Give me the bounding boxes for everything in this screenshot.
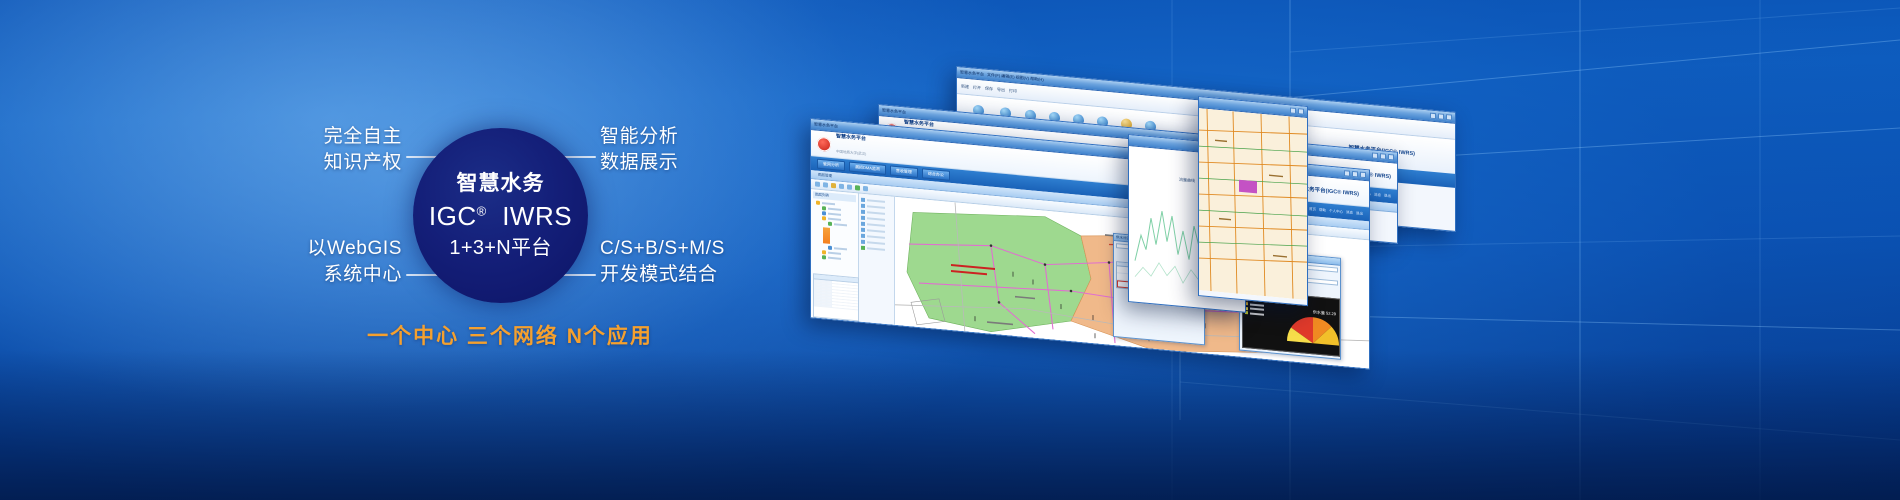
banner-stage: 完全自主 知识产权 以WebGIS 系统中心 智能分析 数据展示 C/S+B/S… [0, 0, 1900, 500]
window-back-titlebar-text: 智慧水务平台 [960, 69, 984, 77]
registered-mark-icon: ® [477, 203, 487, 218]
nav-front-right-3[interactable]: 消息 [1346, 210, 1353, 216]
window-controls[interactable] [1430, 113, 1452, 121]
nav-front-1[interactable]: 漏损DMA监测 [849, 162, 886, 175]
hub-title-en: IGC® IWRS [429, 203, 572, 229]
feature-bottom-left: 以WebGIS 系统中心 [222, 236, 402, 288]
nav-mid-right-4[interactable]: 退出 [1384, 193, 1391, 199]
palette-item-8[interactable] [861, 246, 892, 253]
attribute-grid[interactable] [813, 273, 859, 321]
app-window-stack: 智慧水务平台 文件(F) 编辑(E) 视图(V) 帮助(H) 新建 打开 保存 … [760, 0, 1900, 500]
company-logo-icon-front [817, 136, 831, 151]
brand-name-front: 智慧水务平台 [836, 132, 866, 142]
feature-diagram: 完全自主 知识产权 以WebGIS 系统中心 智能分析 数据展示 C/S+B/S… [0, 0, 820, 500]
window-orange-controls[interactable] [1290, 107, 1304, 114]
feature-bottom-right-line1: C/S+B/S+M/S [600, 236, 725, 262]
nav-front-2[interactable]: 营收管理 [890, 165, 918, 178]
hub-title-cn: 智慧水务 [457, 173, 545, 194]
feature-top-right-line1: 智能分析 [600, 124, 678, 150]
nav-front-right-0[interactable]: 首页 [1309, 206, 1316, 212]
nav-front-right-1[interactable]: 帮助 [1319, 207, 1326, 213]
feature-top-left-line1: 完全自主 [222, 124, 402, 150]
window-middle-titlebar-text: 智慧水务平台 [882, 107, 906, 115]
ribbon-label-2[interactable]: 保存 [985, 85, 993, 92]
subnav-front-0[interactable]: 图层管理 [818, 172, 832, 178]
feature-top-right-line2: 数据展示 [600, 150, 678, 176]
nav-front-right-2[interactable]: 个人中心 [1329, 208, 1343, 214]
hub-title-en-main: IGC [429, 201, 477, 231]
feature-top-left: 完全自主 知识产权 [222, 124, 402, 176]
window-front-titlebar-text: 智慧水务平台 [814, 121, 838, 129]
layer-palette-panel[interactable] [859, 194, 895, 327]
window-front-controls[interactable] [1344, 170, 1366, 178]
nav-front-right[interactable]: 首页 帮助 个人中心 消息 退出 [1309, 206, 1363, 216]
orange-map-svg [1199, 108, 1307, 300]
hub-title-en-second: IWRS [502, 201, 572, 231]
nav-mid-right-3[interactable]: 消息 [1374, 192, 1381, 198]
orange-map-highlight [1239, 180, 1257, 194]
ribbon-label-1[interactable]: 打开 [973, 84, 981, 91]
feature-bottom-left-line1: 以WebGIS [222, 236, 402, 262]
feature-bottom-right-line2: 开发模式结合 [600, 262, 725, 288]
window-orange-map[interactable] [1198, 96, 1308, 306]
nav-front-0[interactable]: 管网分析 [817, 159, 845, 172]
layer-tree-panel[interactable]: 图层列表 [811, 189, 859, 323]
nav-front-right-4[interactable]: 退出 [1356, 211, 1363, 217]
window-middle-controls[interactable] [1372, 152, 1394, 160]
feature-top-right: 智能分析 数据展示 [600, 124, 678, 176]
tagline: 一个中心 三个网络 N个应用 [300, 320, 720, 350]
ribbon-label-3[interactable]: 导出 [997, 86, 1005, 93]
feature-bottom-right: C/S+B/S+M/S 开发模式结合 [600, 236, 725, 288]
ribbon-label-4[interactable]: 打印 [1009, 87, 1017, 94]
ribbon-label-0[interactable]: 新建 [961, 83, 969, 90]
feature-top-left-line2: 知识产权 [222, 150, 402, 176]
hub-subtitle: 1+3+N平台 [449, 238, 551, 258]
feature-bottom-left-line2: 系统中心 [222, 262, 402, 288]
legend-swatch [823, 227, 830, 244]
hub-circle: 智慧水务 IGC® IWRS 1+3+N平台 [413, 128, 588, 303]
nav-front-3[interactable]: 综合办公 [922, 168, 950, 181]
brand-sub-front: 中国地质大学(武汉) [836, 149, 866, 156]
